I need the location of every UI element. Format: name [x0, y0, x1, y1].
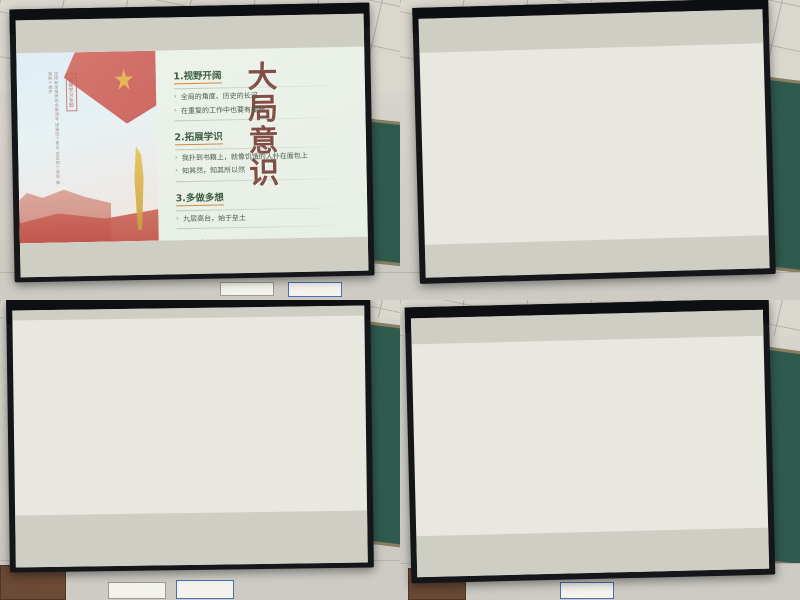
section-heading: 2.拓展学识: [174, 128, 223, 145]
callout-line-2: 三个故事: [169, 320, 207, 321]
slide1-section: 1.视野开阔 全局的角度、历史的长河 在重复的工作中也要有提升: [173, 61, 352, 121]
section-bullet: 我扑到书籍上，就像饥饿的人扑在面包上: [175, 151, 353, 164]
wall-poster-1b: [288, 282, 342, 298]
section-bullet: 知其然，知其所以然: [175, 164, 353, 177]
collage-panel-2: 人心是最大的政治 人民是最大的底气: [400, 0, 800, 300]
projector-screen-3: ★★★★★ 看齐意识 ★★★★★ 向党中央看齐 经常喊看齐 三个故事: [6, 300, 374, 573]
photo-highlight: [665, 339, 740, 341]
wall-poster-4a: [560, 582, 614, 599]
slide1-vertical-subtitle: 坚持和加强党的全面领导 增强四个意识 坚定四个自信 做到两个维护: [47, 72, 61, 190]
photo-thumbnail: 大会筹备01:38: [577, 341, 658, 343]
section-rule: [175, 146, 353, 150]
photo-highlight: [665, 339, 740, 341]
wall-poster-3b: [176, 580, 234, 599]
section-bullet: 在重复的工作中也要有提升: [174, 104, 352, 117]
screen-canvas-4: 故事三：校庆筹备的点点滴滴 致·远方 每天凌晨两点才熄灭的灯: [411, 310, 770, 578]
projector-screen-4: 故事三：校庆筹备的点点滴滴 致·远方 每天凌晨两点才熄灭的灯: [405, 300, 776, 583]
photo-shape: [613, 342, 634, 343]
wall-poster-3a: [108, 582, 166, 599]
photo-highlight: [665, 339, 740, 341]
slide1-art-panel: 坚持和加强党的全面领导 增强四个意识 坚定四个自信 做到两个维护 党建学习专题: [16, 51, 159, 244]
photo-thumbnail: 大会前夜04:48: [661, 339, 742, 341]
slide1-section: 2.拓展学识 我扑到书籍上，就像饥饿的人扑在面包上 知其然，知其所以然: [174, 122, 353, 182]
section-rule: [176, 225, 354, 229]
slide1-stamp: 党建学习专题: [65, 73, 77, 111]
slide1-section: 3.多做多想 九层高台，始于垒土: [175, 183, 354, 230]
projector-screen-2: 人心是最大的政治 人民是最大的底气: [412, 0, 776, 284]
screen-canvas-2: 人心是最大的政治 人民是最大的底气: [418, 9, 770, 278]
collage-panel-3: ★★★★★ 看齐意识 ★★★★★ 向党中央看齐 经常喊看齐 三个故事: [0, 300, 400, 600]
screen-canvas-1: 坚持和加强党的全面领导 增强四个意识 坚定四个自信 做到两个维护 党建学习专题 …: [15, 14, 368, 277]
slide4-signature: 致·远方: [698, 336, 743, 344]
section-bullet: 九层高台，始于垒土: [176, 212, 354, 225]
slide1-content: 1.视野开阔 全局的角度、历史的长河 在重复的工作中也要有提升 2.拓展学识 我…: [155, 47, 368, 241]
section-bullet: 全局的角度、历史的长河: [174, 90, 352, 103]
slide-big-picture-awareness: 坚持和加强党的全面领导 增强四个意识 坚定四个自信 做到两个维护 党建学习专题 …: [16, 47, 368, 244]
collage-panel-1: 坚持和加强党的全面领导 增强四个意识 坚定四个自信 做到两个维护 党建学习专题 …: [0, 0, 400, 300]
section-rule: [174, 117, 352, 121]
collage-panel-4: 故事三：校庆筹备的点点滴滴 致·远方 每天凌晨两点才熄灭的灯: [400, 300, 800, 600]
photo-collage: 坚持和加强党的全面领导 增强四个意识 坚定四个自信 做到两个维护 党建学习专题 …: [0, 0, 800, 600]
section-rule: [176, 207, 354, 211]
section-heading: 3.多做多想: [175, 189, 224, 206]
screen-matte-bottom-4: [416, 528, 769, 578]
red-flag-graphic: [63, 51, 159, 125]
screen-matte-bottom-1: [20, 237, 369, 277]
photo-highlight: [582, 341, 654, 343]
screen-matte-bottom-3: [15, 511, 368, 567]
projector-screen-1: 坚持和加强党的全面领导 增强四个意识 坚定四个自信 做到两个维护 党建学习专题 …: [9, 3, 374, 283]
screen-canvas-3: ★★★★★ 看齐意识 ★★★★★ 向党中央看齐 经常喊看齐 三个故事: [12, 305, 368, 567]
wall-poster-1a: [220, 282, 274, 296]
section-rule: [174, 85, 352, 89]
section-rule: [175, 178, 353, 182]
section-heading: 1.视野开阔: [173, 68, 222, 85]
